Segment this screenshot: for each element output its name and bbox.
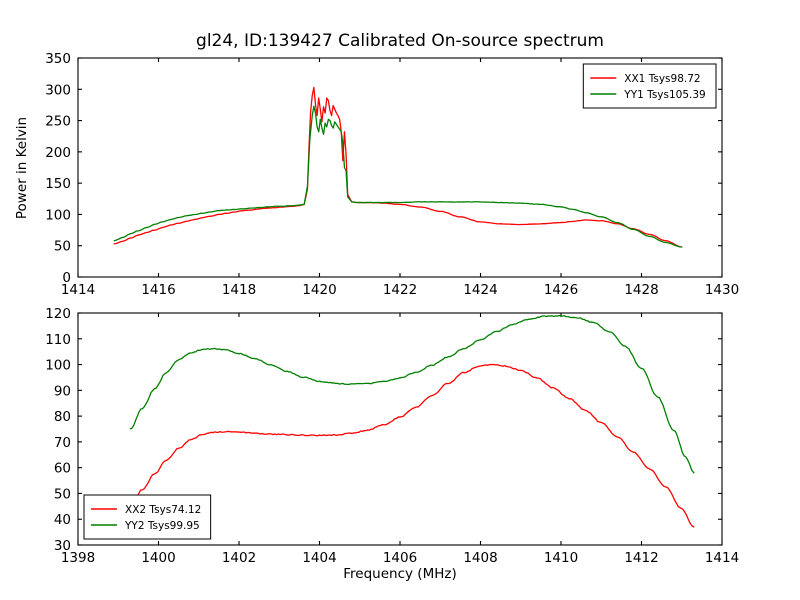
y-tick-label: 100 [45,207,71,223]
y-tick-label: 250 [45,114,71,130]
y-tick-label: 120 [45,306,71,322]
legend-box [84,495,211,539]
matplotlib-figure: gl24, ID:139427 Calibrated On-source spe… [0,0,800,600]
y-tick-label: 40 [54,512,71,528]
bottom-panel-legend: XX2 Tsys74.12YY2 Tsys99.95 [84,495,211,539]
y-tick-label: 100 [45,358,71,374]
y-tick-label: 80 [54,409,71,425]
x-tick-label: 1410 [544,550,578,566]
x-tick-label: 1426 [544,282,578,298]
x-tick-label: 1414 [705,550,739,566]
x-tick-label: 1408 [463,550,497,566]
y-tick-label: 90 [54,383,71,399]
y-tick-label: 30 [54,538,71,554]
y-tick-label: 300 [45,82,71,98]
x-tick-label: 1430 [705,282,739,298]
y-tick-label: 110 [45,332,71,348]
top-panel-ylabel: Power in Kelvin [14,117,30,219]
figure-canvas: gl24, ID:139427 Calibrated On-source spe… [0,0,800,600]
y-tick-label: 350 [45,51,71,67]
x-tick-label: 1428 [624,282,658,298]
legend-entry-label: XX1 Tsys98.72 [624,73,700,85]
x-tick-label: 1412 [624,550,658,566]
legend-box [583,64,716,108]
y-tick-label: 0 [62,270,71,286]
bottom-panel-xlabel: Frequency (MHz) [343,566,456,582]
x-tick-label: 1418 [222,282,256,298]
x-tick-label: 1422 [383,282,417,298]
y-tick-label: 150 [45,176,71,192]
x-tick-label: 1420 [302,282,336,298]
x-tick-label: 1402 [222,550,256,566]
x-tick-label: 1400 [141,550,175,566]
y-tick-label: 50 [54,486,71,502]
x-tick-label: 1404 [302,550,336,566]
x-tick-label: 1406 [383,550,417,566]
page-title: gl24, ID:139427 Calibrated On-source spe… [196,31,604,51]
x-tick-label: 1424 [463,282,497,298]
legend-entry-label: YY1 Tsys105.39 [623,89,705,101]
y-tick-label: 70 [54,435,71,451]
legend-entry-label: XX2 Tsys74.12 [125,504,201,516]
y-tick-label: 60 [54,461,71,477]
y-tick-label: 200 [45,145,71,161]
x-tick-label: 1416 [141,282,175,298]
top-panel-legend: XX1 Tsys98.72YY1 Tsys105.39 [583,64,716,108]
legend-entry-label: YY2 Tsys99.95 [124,520,200,532]
y-tick-label: 50 [54,239,71,255]
